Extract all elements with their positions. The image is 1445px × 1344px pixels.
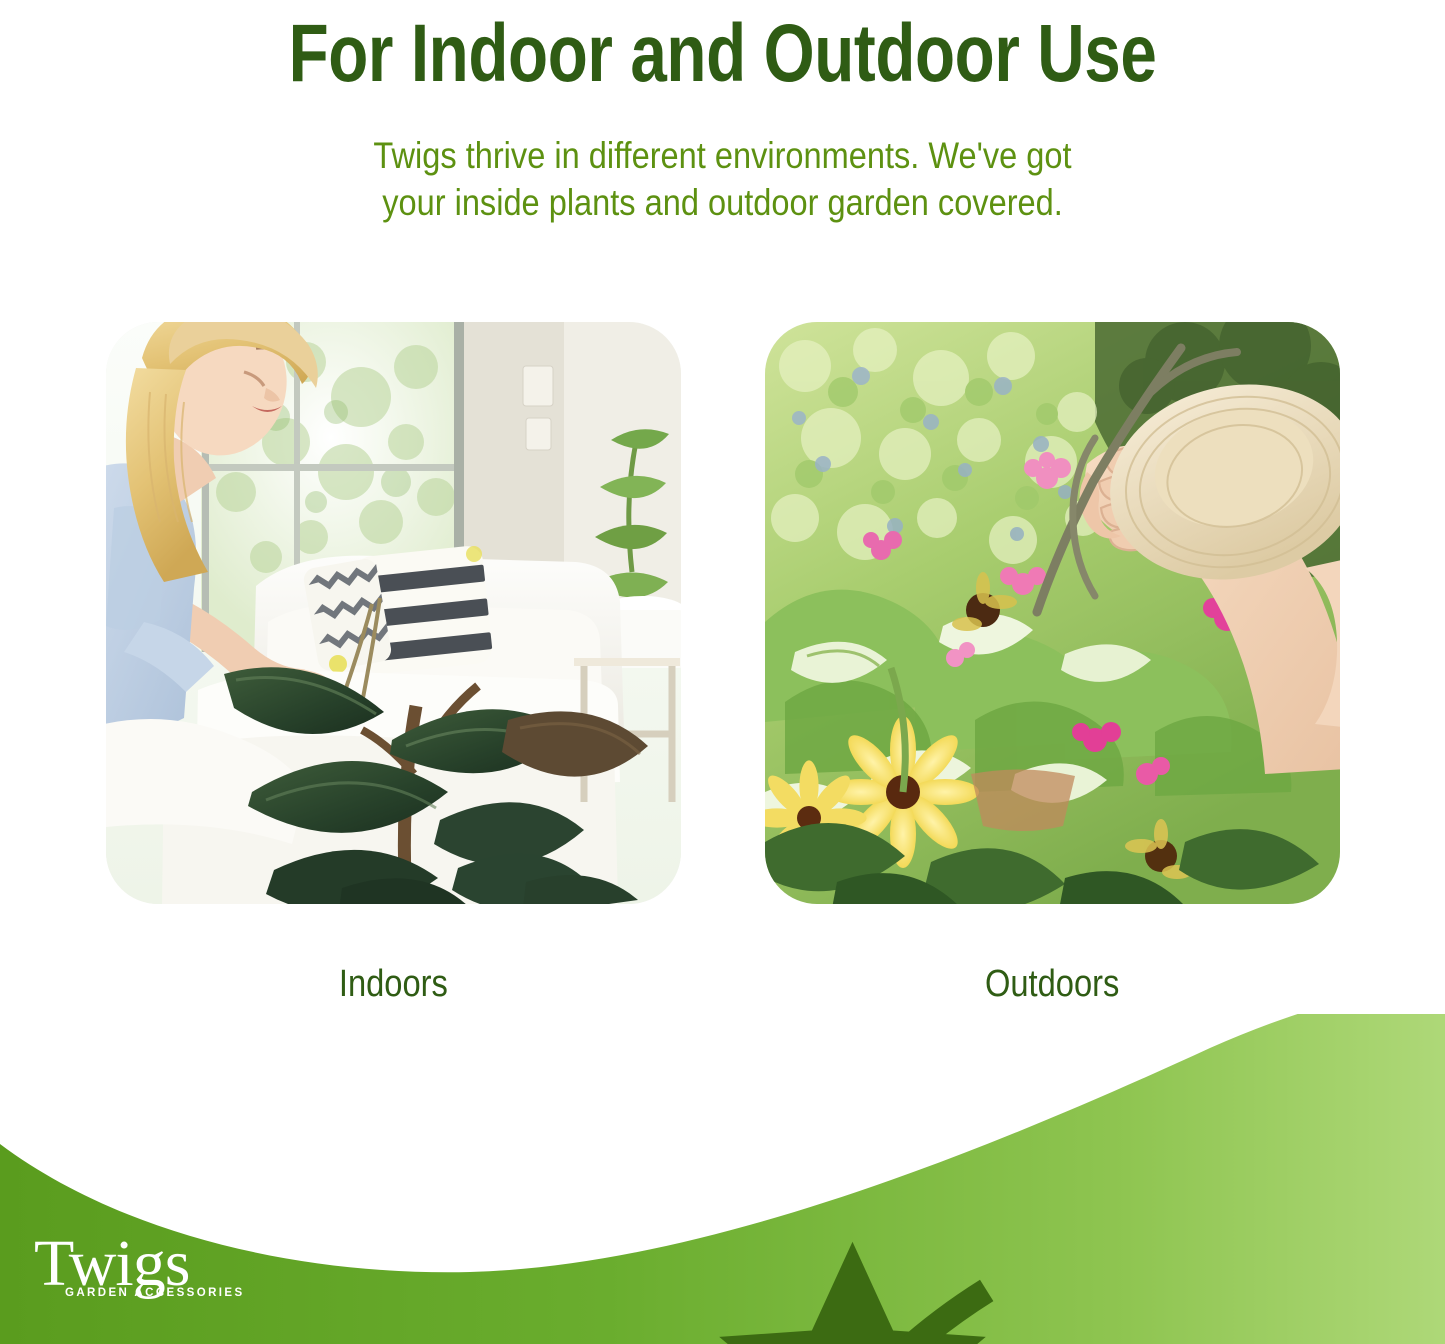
indoors-photo (106, 322, 681, 904)
card-indoors: Indoors (106, 322, 681, 1006)
caption-indoors: Indoors (338, 962, 447, 1006)
outdoors-photo (765, 322, 1340, 904)
page-title: For Indoor and Outdoor Use (145, 6, 1301, 102)
header: For Indoor and Outdoor Use Twigs thrive … (0, 0, 1445, 226)
photo-card-row: Indoors (0, 322, 1445, 1006)
page-subtitle: Twigs thrive in different environments. … (87, 132, 1359, 226)
page-subtitle-line-1: Twigs thrive in different environments. … (87, 132, 1359, 179)
card-outdoors: Outdoors (765, 322, 1340, 1006)
footer-banner: Twigs GARDEN ACCESSORIES (0, 1014, 1445, 1344)
caption-outdoors: Outdoors (985, 962, 1119, 1006)
page-subtitle-line-2: your inside plants and outdoor garden co… (87, 179, 1359, 226)
